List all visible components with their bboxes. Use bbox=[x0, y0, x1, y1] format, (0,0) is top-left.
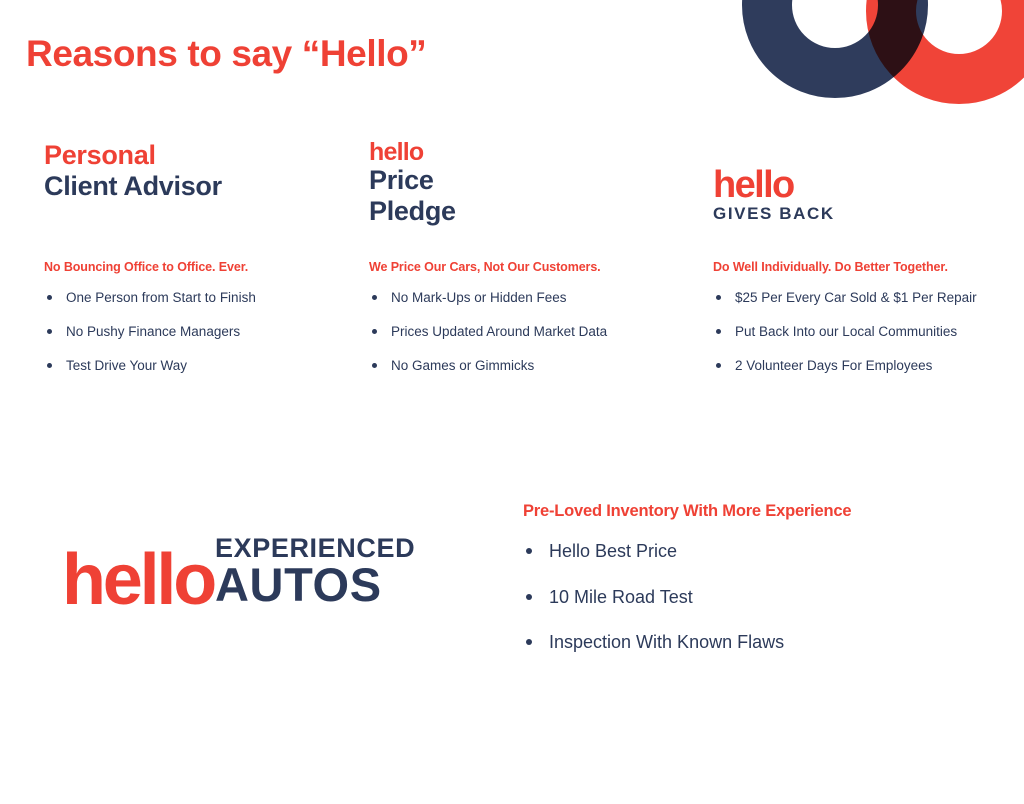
column-heading-line2: Pledge bbox=[369, 196, 456, 227]
list-item-label: No Games or Gimmicks bbox=[391, 358, 534, 373]
column-heading-line1: Price bbox=[369, 165, 456, 196]
hello-wordmark: hello bbox=[369, 140, 456, 165]
navy-ring-icon bbox=[742, 0, 928, 98]
bullet-icon bbox=[526, 594, 532, 600]
brand-hello-wordmark: hello bbox=[62, 552, 214, 608]
bottom-bullet-list: Hello Best Price 10 Mile Road Test Inspe… bbox=[523, 541, 1003, 654]
column-subhead: Do Well Individually. Do Better Together… bbox=[713, 260, 948, 274]
page-title: Reasons to say “Hello” bbox=[26, 33, 426, 75]
bullet-icon bbox=[372, 295, 377, 300]
column-subhead: We Price Our Cars, Not Our Customers. bbox=[369, 260, 601, 274]
bullet-icon bbox=[526, 639, 532, 645]
list-item-label: One Person from Start to Finish bbox=[66, 290, 256, 305]
list-item: 2 Volunteer Days For Employees bbox=[713, 358, 977, 374]
list-item-label: Prices Updated Around Market Data bbox=[391, 324, 607, 339]
list-item: 10 Mile Road Test bbox=[523, 587, 1003, 609]
column-heading-line1: Personal bbox=[44, 140, 222, 171]
list-item: No Mark-Ups or Hidden Fees bbox=[369, 290, 607, 306]
hello-experienced-autos-logo: hello EXPERIENCED AUTOS bbox=[62, 535, 415, 608]
brand-autos-label: AUTOS bbox=[215, 563, 382, 606]
list-item: Inspection With Known Flaws bbox=[523, 632, 1003, 654]
bullet-icon bbox=[716, 363, 721, 368]
list-item: Put Back Into our Local Communities bbox=[713, 324, 977, 340]
brand-text-stack: EXPERIENCED AUTOS bbox=[215, 535, 415, 608]
list-item-label: Inspection With Known Flaws bbox=[549, 632, 784, 652]
list-item: No Games or Gimmicks bbox=[369, 358, 607, 374]
column-bullet-list: One Person from Start to Finish No Pushy… bbox=[44, 290, 256, 393]
list-item-label: No Pushy Finance Managers bbox=[66, 324, 240, 339]
list-item: $25 Per Every Car Sold & $1 Per Repair bbox=[713, 290, 977, 306]
bullet-icon bbox=[47, 363, 52, 368]
list-item: Test Drive Your Way bbox=[44, 358, 256, 374]
list-item-label: Put Back Into our Local Communities bbox=[735, 324, 957, 339]
column-heading-line2: Client Advisor bbox=[44, 171, 222, 202]
list-item-label: Test Drive Your Way bbox=[66, 358, 187, 373]
bullet-icon bbox=[526, 548, 532, 554]
list-item-label: 10 Mile Road Test bbox=[549, 587, 693, 607]
slide-canvas: Reasons to say “Hello” Personal Client A… bbox=[0, 0, 1024, 804]
feature-columns: Personal Client Advisor No Bouncing Offi… bbox=[0, 140, 1024, 400]
column-heading: hello Price Pledge bbox=[369, 140, 456, 226]
column-heading: Personal Client Advisor bbox=[44, 140, 222, 201]
list-item-label: 2 Volunteer Days For Employees bbox=[735, 358, 932, 373]
list-item: No Pushy Finance Managers bbox=[44, 324, 256, 340]
column-bullet-list: No Mark-Ups or Hidden Fees Prices Update… bbox=[369, 290, 607, 393]
column-subhead: No Bouncing Office to Office. Ever. bbox=[44, 260, 248, 274]
list-item-label: No Mark-Ups or Hidden Fees bbox=[391, 290, 567, 305]
bullet-icon bbox=[716, 295, 721, 300]
bullet-icon bbox=[716, 329, 721, 334]
bullet-icon bbox=[372, 363, 377, 368]
red-ring-icon bbox=[866, 0, 1024, 104]
column-heading: hello GIVES BACK bbox=[713, 168, 835, 224]
list-item: Prices Updated Around Market Data bbox=[369, 324, 607, 340]
bullet-icon bbox=[47, 329, 52, 334]
list-item: One Person from Start to Finish bbox=[44, 290, 256, 306]
bullet-icon bbox=[372, 329, 377, 334]
bottom-section: hello EXPERIENCED AUTOS Pre-Loved Invent… bbox=[0, 490, 1024, 710]
bullet-icon bbox=[47, 295, 52, 300]
list-item: Hello Best Price bbox=[523, 541, 1003, 563]
bottom-feature-panel: Pre-Loved Inventory With More Experience… bbox=[523, 502, 1003, 678]
list-item-label: $25 Per Every Car Sold & $1 Per Repair bbox=[735, 290, 977, 305]
corner-decoration bbox=[724, 0, 1024, 160]
hello-wordmark: hello bbox=[713, 168, 835, 203]
list-item-label: Hello Best Price bbox=[549, 541, 677, 561]
column-bullet-list: $25 Per Every Car Sold & $1 Per Repair P… bbox=[713, 290, 977, 393]
gives-back-wordmark-sub: GIVES BACK bbox=[713, 205, 835, 224]
bottom-subhead: Pre-Loved Inventory With More Experience bbox=[523, 502, 1003, 521]
